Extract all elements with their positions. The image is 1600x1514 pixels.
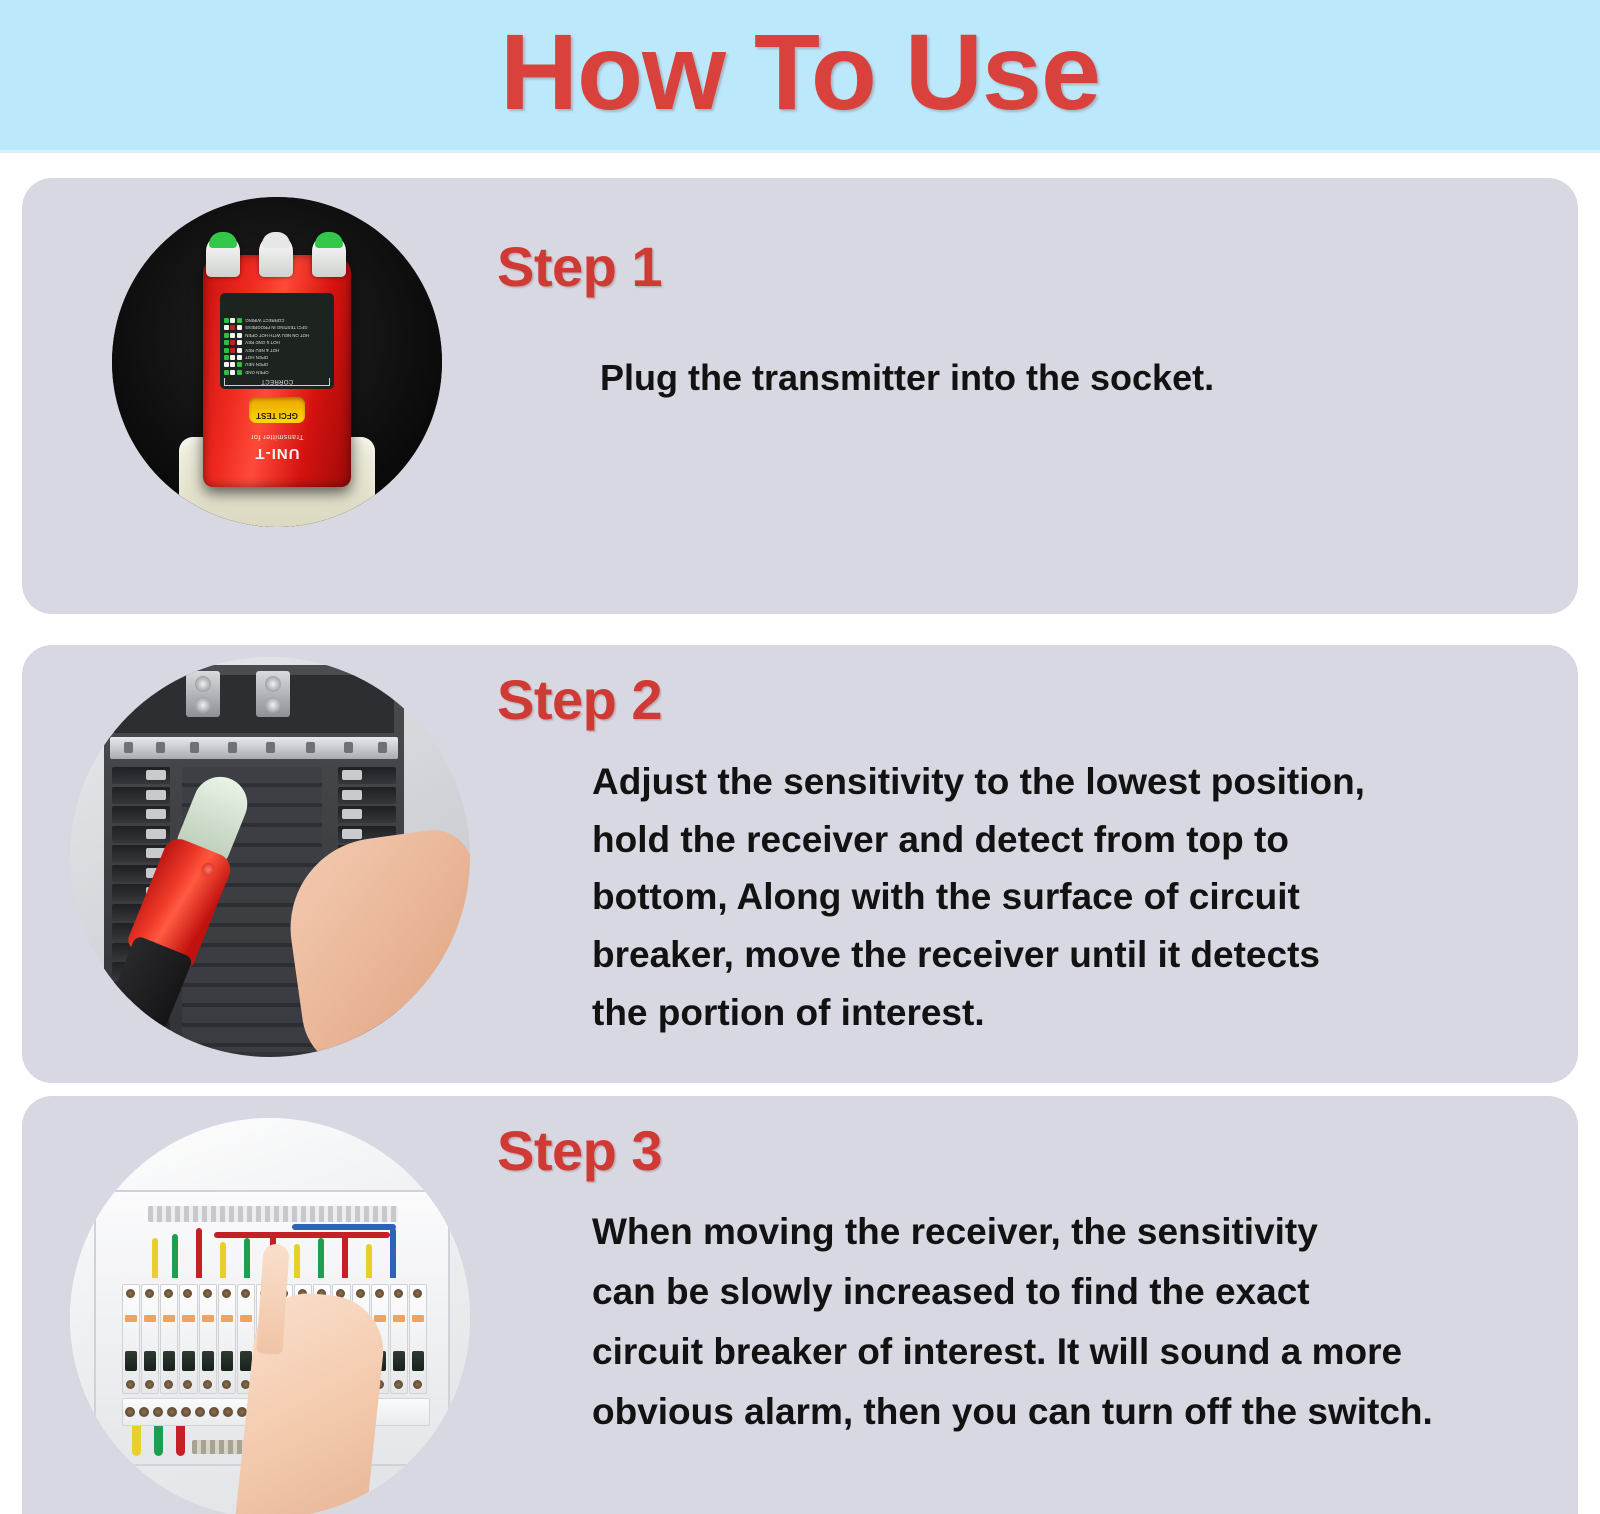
circuit-breaker — [112, 806, 170, 823]
brand-logo: UNI-T — [255, 445, 300, 462]
step-card-3: Step 3 When moving the receiver, the sen… — [22, 1096, 1578, 1514]
circuit-breaker — [338, 806, 396, 823]
screw-icon — [265, 697, 281, 713]
step-2-body: Adjust the sensitivity to the lowest pos… — [592, 753, 1552, 1042]
screw-icon — [195, 697, 211, 713]
circuit-breaker — [338, 767, 396, 784]
led-row: OPEN HOT — [224, 354, 330, 361]
step-1-body: Plug the transmitter into the socket. — [600, 354, 1214, 402]
led-row: OPEN NEU — [224, 361, 330, 368]
page-title: How To Use — [0, 8, 1600, 135]
main-lug — [186, 671, 220, 717]
prong-tip-grey — [262, 232, 290, 248]
circuit-breaker — [112, 767, 170, 784]
transmitter-label-panel: CORRECT OPEN GND OPEN NEU OPEN HOT HOT &… — [220, 293, 334, 389]
step-1-heading: Step 1 — [497, 234, 662, 299]
mcb-switch[interactable] — [218, 1284, 236, 1394]
main-lug — [256, 671, 290, 717]
gfci-test-button[interactable]: GFCI TEST — [249, 397, 305, 423]
transmitter-label-title: Transmitter for — [251, 433, 304, 440]
prong-tip-green — [315, 232, 343, 248]
screw-icon — [195, 676, 211, 692]
mcb-switch[interactable] — [409, 1284, 427, 1394]
prong-left — [206, 235, 240, 277]
mcb-switch[interactable] — [390, 1284, 408, 1394]
transmitter-prongs — [202, 235, 352, 275]
step-2-heading: Step 2 — [497, 667, 662, 732]
led-row: HOT & NEU REV — [224, 346, 330, 353]
transmitter-plugged-into-socket-photo: CORRECT OPEN GND OPEN NEU OPEN HOT HOT &… — [112, 197, 442, 527]
led-row: OPEN GND — [224, 369, 330, 376]
terminal-strip-top — [148, 1206, 398, 1222]
led-row: CORRECT WIRING — [224, 317, 330, 324]
step-card-1: CORRECT OPEN GND OPEN NEU OPEN HOT HOT &… — [22, 178, 1578, 614]
mcb-switch[interactable] — [160, 1284, 178, 1394]
finger-pointing-at-consumer-unit-photo — [70, 1118, 470, 1514]
main-bus-block — [114, 675, 394, 733]
mcb-switch[interactable] — [179, 1284, 197, 1394]
mcb-switch[interactable] — [199, 1284, 217, 1394]
step-3-heading: Step 3 — [497, 1118, 662, 1183]
step-3-body: When moving the receiver, the sensitivit… — [592, 1202, 1578, 1442]
led-row: HOT ON NEU WITH HOT OPEN — [224, 332, 330, 339]
header-band: How To Use — [0, 0, 1600, 153]
label-correct-header: CORRECT — [224, 378, 330, 386]
prong-center — [259, 235, 293, 277]
outgoing-leads — [128, 1426, 198, 1460]
circuit-breaker — [112, 787, 170, 804]
receiver-scanning-breaker-panel-photo — [70, 657, 470, 1057]
screw-icon — [265, 676, 281, 692]
step-card-2: Step 2 Adjust the sensitivity to the low… — [22, 645, 1578, 1083]
neutral-bar — [110, 737, 398, 759]
led-row: GFCI TESTING IN PROGRESS — [224, 324, 330, 331]
led-row: HOT & GND REV — [224, 339, 330, 346]
mcb-switch[interactable] — [122, 1284, 140, 1394]
circuit-breaker — [112, 826, 170, 843]
prong-tip-green — [209, 232, 237, 248]
mcb-switch[interactable] — [141, 1284, 159, 1394]
prong-right — [312, 235, 346, 277]
circuit-breaker — [338, 787, 396, 804]
